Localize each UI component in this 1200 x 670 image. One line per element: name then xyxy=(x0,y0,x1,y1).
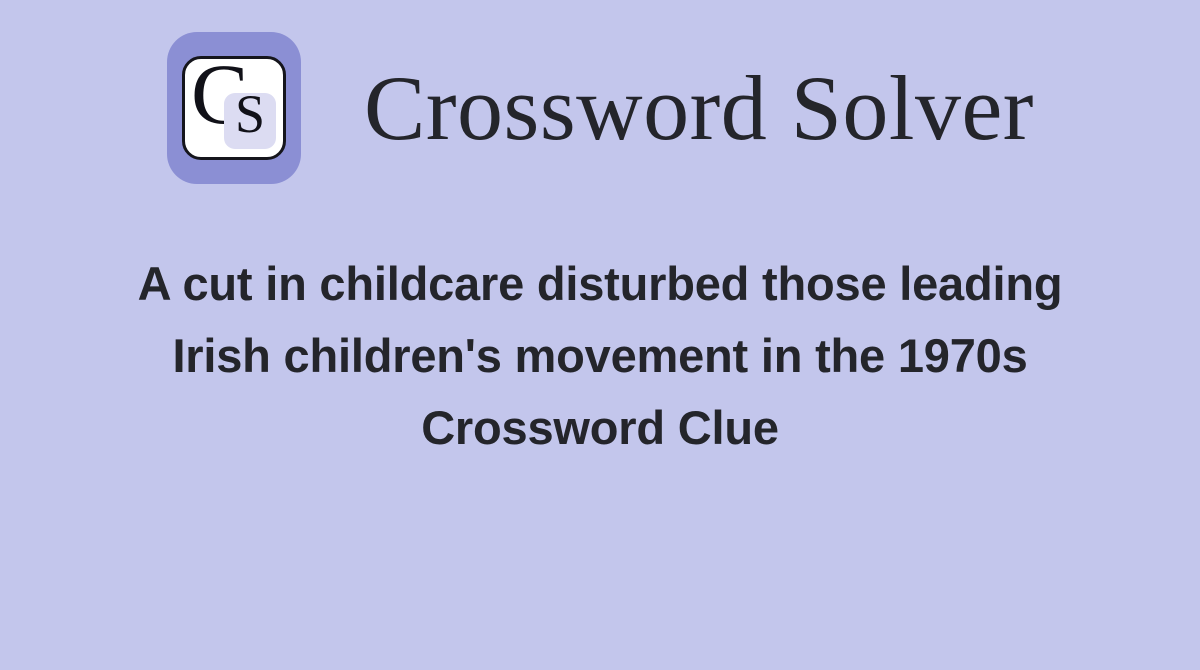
crossword-solver-logo[interactable]: C S xyxy=(166,31,302,186)
crossword-clue-text: A cut in childcare disturbed those leadi… xyxy=(0,248,1200,392)
clue-heading-block: A cut in childcare disturbed those leadi… xyxy=(0,248,1200,464)
site-title[interactable]: Crossword Solver xyxy=(364,62,1034,154)
site-header: C S Crossword Solver xyxy=(0,28,1200,188)
page-root: C S Crossword Solver A cut in childcare … xyxy=(0,0,1200,670)
logo-inner-tile: C S xyxy=(182,56,286,160)
crossword-clue-suffix: Crossword Clue xyxy=(0,392,1200,464)
logo-letter-s: S xyxy=(224,87,276,141)
logo-letter-s-chip: S xyxy=(224,93,276,149)
logo-badge: C S xyxy=(167,32,301,184)
